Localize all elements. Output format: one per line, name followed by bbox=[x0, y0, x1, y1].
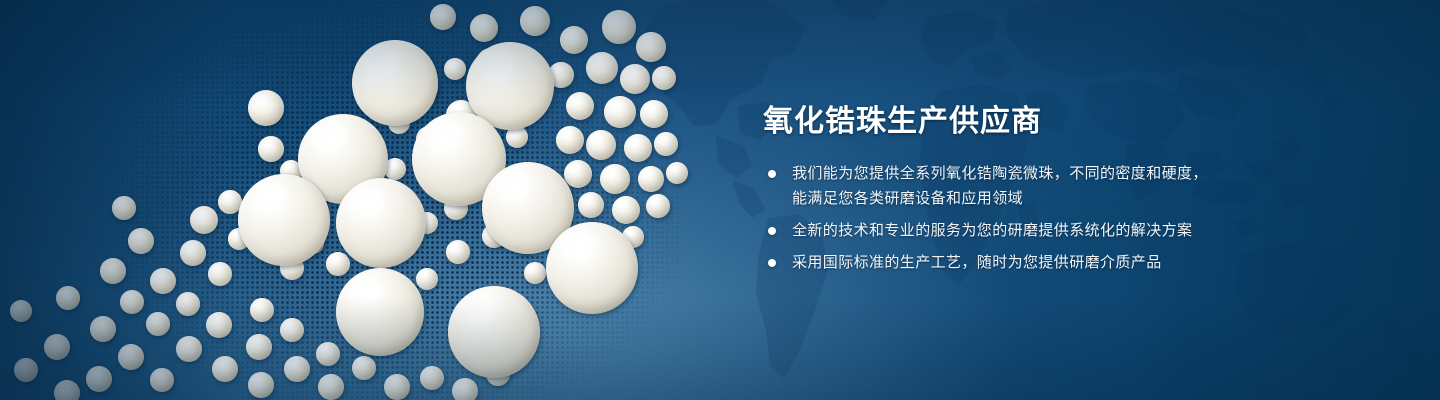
list-item-line: 采用国际标准的生产工艺，随时为您提供研磨介质产品 bbox=[792, 250, 1323, 275]
list-item-line: 我们能为您提供全系列氧化锆陶瓷微珠，不同的密度和硬度， bbox=[792, 161, 1323, 186]
page-title: 氧化锆珠生产供应商 bbox=[763, 104, 1323, 139]
list-item: 采用国际标准的生产工艺，随时为您提供研磨介质产品 bbox=[763, 250, 1323, 275]
list-item: 我们能为您提供全系列氧化锆陶瓷微珠，不同的密度和硬度， 能满足您各类研磨设备和应… bbox=[763, 161, 1323, 211]
bullet-dot-icon bbox=[768, 170, 776, 178]
list-item-line: 全新的技术和专业的服务为您的研磨提供系统化的解决方案 bbox=[792, 218, 1323, 243]
hero-banner: 氧化锆珠生产供应商 我们能为您提供全系列氧化锆陶瓷微珠，不同的密度和硬度， 能满… bbox=[0, 0, 1440, 400]
list-item-line: 能满足您各类研磨设备和应用领域 bbox=[792, 186, 1323, 211]
list-item: 全新的技术和专业的服务为您的研磨提供系统化的解决方案 bbox=[763, 218, 1323, 243]
banner-content: 氧化锆珠生产供应商 我们能为您提供全系列氧化锆陶瓷微珠，不同的密度和硬度， 能满… bbox=[763, 104, 1323, 275]
feature-list: 我们能为您提供全系列氧化锆陶瓷微珠，不同的密度和硬度， 能满足您各类研磨设备和应… bbox=[763, 161, 1323, 275]
bullet-dot-icon bbox=[768, 259, 776, 267]
bullet-dot-icon bbox=[768, 227, 776, 235]
